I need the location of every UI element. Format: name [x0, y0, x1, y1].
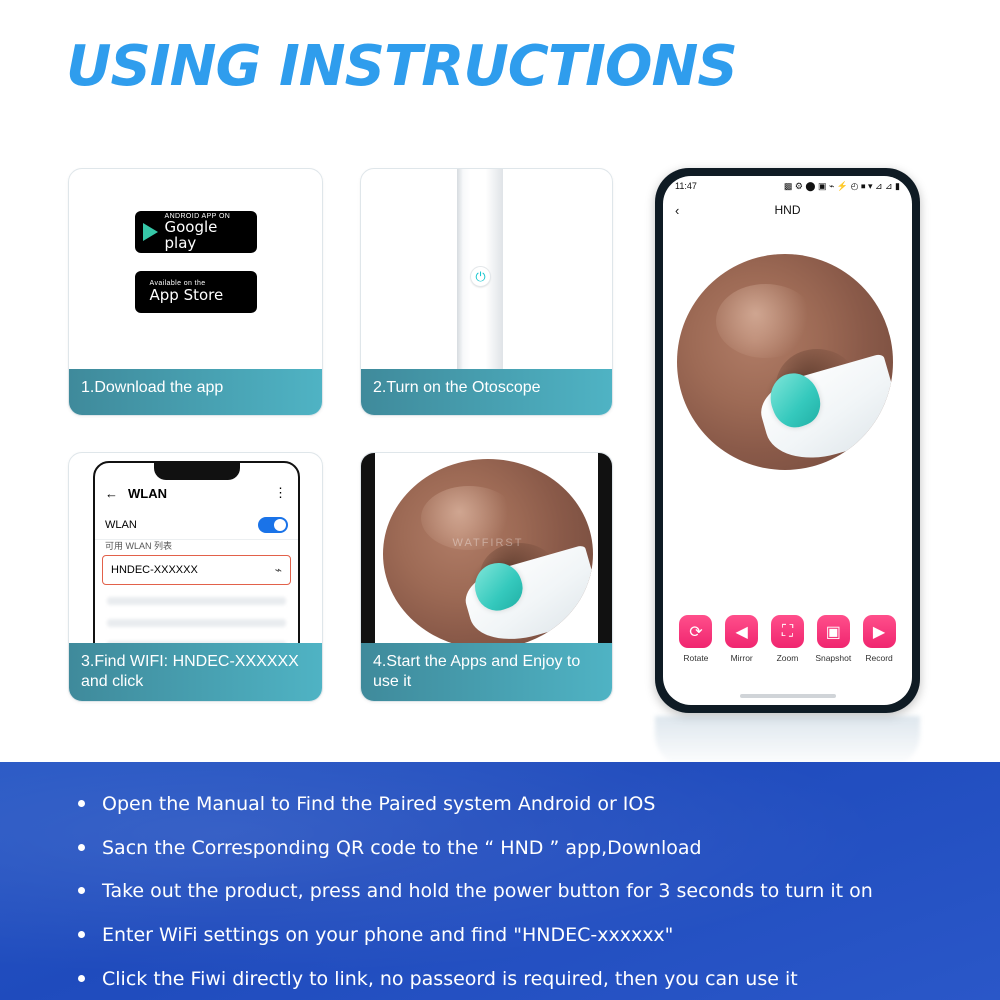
app-title: HND [775, 203, 801, 217]
step-card-download: ANDROID APP ON Google play Available on … [68, 168, 323, 416]
status-bar: 11:47 ▩ ⚙ ⬤ ▣ ⌁ ⚡ ◴ ⏹ ▾ ⊿ ⊿ ▮ [663, 176, 912, 196]
record-icon[interactable]: ▶ [863, 615, 896, 648]
list-item: Open the Manual to Find the Paired syste… [76, 792, 1000, 818]
control-mirror[interactable]: ◀ Mirror [720, 615, 764, 663]
wlan-settings-phone: ← WLAN ⋮ WLAN 可用 WLAN 列表 HNDEC-XXXXXX ⌁ [93, 461, 300, 655]
card2-media: ⏻ [361, 169, 612, 369]
otoscope-tip [467, 539, 593, 642]
wlan-header: ← WLAN ⋮ [105, 485, 288, 501]
wlan-placeholder-row [107, 597, 286, 605]
card4-media: WATFIRST [361, 453, 612, 655]
control-zoom-label: Zoom [765, 653, 809, 663]
back-arrow-icon[interactable]: ← [105, 486, 118, 501]
wlan-placeholder-row [107, 619, 286, 627]
control-bar: ⟳ Rotate ◀ Mirror ⛶ Zoom ▣ Snapshot ▶ Re… [663, 615, 912, 677]
status-time: 11:47 [675, 181, 697, 191]
control-snapshot-label: Snapshot [811, 653, 855, 663]
camera-icon[interactable]: ▣ [817, 615, 850, 648]
wlan-section-label: 可用 WLAN 列表 [105, 539, 172, 552]
otoscope-tip [763, 345, 893, 462]
wifi-icon: ⌁ [275, 563, 282, 577]
wlan-toggle-row[interactable]: WLAN [95, 511, 298, 540]
phone-notch [154, 463, 240, 480]
instructions-panel: Open the Manual to Find the Paired syste… [0, 762, 1000, 1000]
card4-caption: 4.Start the Apps and Enjoy to use it [361, 643, 612, 701]
app-preview-phone: 11:47 ▩ ⚙ ⬤ ▣ ⌁ ⚡ ◴ ⏹ ▾ ⊿ ⊿ ▮ ‹ HND ⟳ Ro… [655, 168, 920, 713]
wlan-screen-title: WLAN [128, 486, 167, 501]
list-item: Sacn the Corresponding QR code to the “ … [76, 836, 1000, 862]
back-arrow-icon[interactable]: ‹ [675, 203, 679, 218]
ear-canal-image [677, 254, 893, 470]
control-rotate[interactable]: ⟳ Rotate [674, 615, 718, 663]
page-title: USING INSTRUCTIONS [66, 34, 737, 99]
phone-reflection [655, 716, 920, 768]
right-letterbox [598, 453, 612, 655]
phone-screen: 11:47 ▩ ⚙ ⬤ ▣ ⌁ ⚡ ◴ ⏹ ▾ ⊿ ⊿ ▮ ‹ HND ⟳ Ro… [663, 176, 912, 705]
rotate-icon[interactable]: ⟳ [679, 615, 712, 648]
overflow-menu-icon[interactable]: ⋮ [274, 485, 288, 501]
wlan-toggle[interactable] [258, 517, 288, 533]
watermark: WATFIRST [453, 537, 524, 549]
wlan-row-label: WLAN [105, 519, 137, 531]
card1-caption: 1.Download the app [69, 369, 322, 415]
card3-media: ← WLAN ⋮ WLAN 可用 WLAN 列表 HNDEC-XXXXXX ⌁ [69, 453, 322, 655]
google-play-badge[interactable]: ANDROID APP ON Google play [135, 211, 257, 253]
control-mirror-label: Mirror [720, 653, 764, 663]
control-record-label: Record [857, 653, 901, 663]
step-card-power-on: ⏻ 2.Turn on the Otoscope [360, 168, 613, 416]
card3-caption: 3.Find WIFI: HNDEC-XXXXXX and click [69, 643, 322, 701]
zoom-icon[interactable]: ⛶ [771, 615, 804, 648]
step-card-find-wifi: ← WLAN ⋮ WLAN 可用 WLAN 列表 HNDEC-XXXXXX ⌁ … [68, 452, 323, 702]
control-snapshot[interactable]: ▣ Snapshot [811, 615, 855, 663]
control-zoom[interactable]: ⛶ Zoom [765, 615, 809, 663]
card2-caption: 2.Turn on the Otoscope [361, 369, 612, 415]
google-play-badge-bottom: Google play [165, 220, 249, 252]
control-rotate-label: Rotate [674, 653, 718, 663]
step-card-start-app: WATFIRST 4.Start the Apps and Enjoy to u… [360, 452, 613, 702]
list-item: Enter WiFi settings on your phone and fi… [76, 923, 1000, 949]
app-header: ‹ HND [663, 198, 912, 222]
power-icon[interactable]: ⏻ [471, 267, 490, 286]
control-record[interactable]: ▶ Record [857, 615, 901, 663]
app-store-badge-bottom: App Store [150, 288, 224, 304]
status-icons: ▩ ⚙ ⬤ ▣ ⌁ ⚡ ◴ ⏹ ▾ ⊿ ⊿ ▮ [784, 181, 900, 192]
app-store-badge[interactable]: Available on the App Store [135, 271, 257, 313]
instructions-list: Open the Manual to Find the Paired syste… [0, 762, 1000, 992]
ear-canal-image: WATFIRST [383, 459, 593, 649]
left-letterbox [361, 453, 375, 655]
mirror-icon[interactable]: ◀ [725, 615, 758, 648]
list-item: Take out the product, press and hold the… [76, 879, 1000, 905]
camera-view[interactable] [663, 226, 912, 615]
home-indicator [740, 694, 836, 698]
wifi-network-item[interactable]: HNDEC-XXXXXX ⌁ [102, 555, 291, 585]
google-play-icon [143, 223, 158, 241]
list-item: Click the Fiwi directly to link, no pass… [76, 967, 1000, 993]
wifi-network-name: HNDEC-XXXXXX [111, 564, 198, 576]
card1-media: ANDROID APP ON Google play Available on … [69, 169, 322, 369]
